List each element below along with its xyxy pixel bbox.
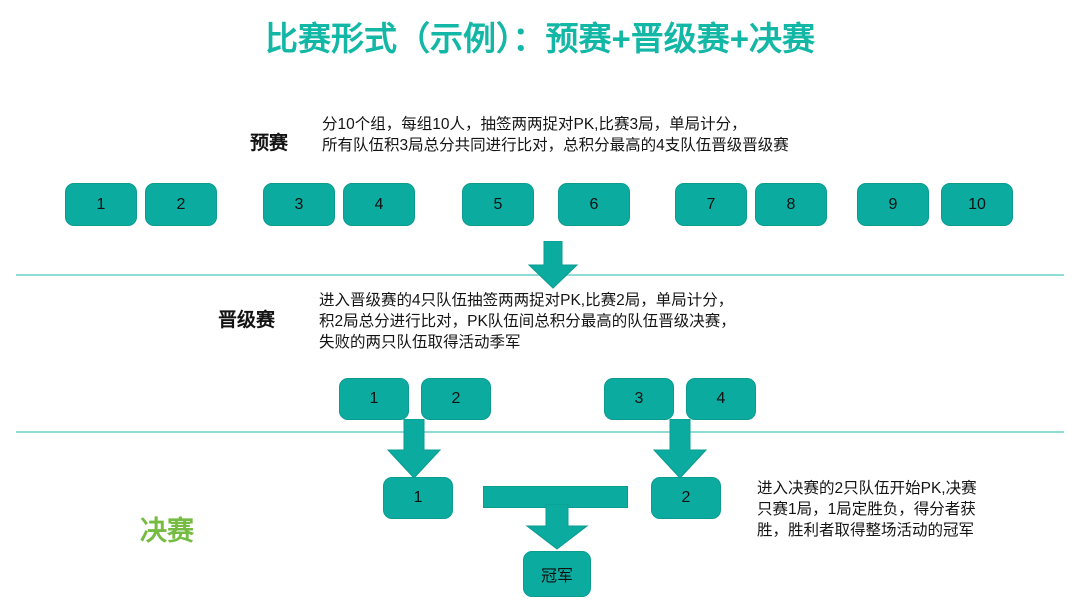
arrow-final-to-champion [520,504,594,550]
arrow-prelim-to-promotion [525,241,581,289]
prelim-box-2[interactable]: 2 [145,183,217,226]
final-box-1[interactable]: 1 [383,477,453,519]
stage-description-prelim: 分10个组，每组10人，抽签两两捉对PK,比赛3局，单局计分， 所有队伍积3局总… [322,114,942,156]
stage-description-promotion: 进入晋级赛的4只队伍抽签两两捉对PK,比赛2局，单局计分， 积2局总分进行比对，… [319,290,939,353]
prelim-box-4[interactable]: 4 [343,183,415,226]
champion-box[interactable]: 冠军 [523,551,591,597]
prelim-box-5[interactable]: 5 [462,183,534,226]
promotion-box-2[interactable]: 2 [421,378,491,420]
stage-label-prelim: 预赛 [250,128,288,155]
slide-canvas: 比赛形式（示例）：预赛+晋级赛+决赛 预赛 分10个组，每组10人，抽签两两捉对… [0,0,1080,607]
stage-description-final: 进入决赛的2只队伍开始PK,决赛 只赛1局，1局定胜负，得分者获 胜，胜利者取得… [757,478,1057,541]
prelim-box-10[interactable]: 10 [941,183,1013,226]
promotion-box-4[interactable]: 4 [686,378,756,420]
promotion-box-3[interactable]: 3 [604,378,674,420]
prelim-box-8[interactable]: 8 [755,183,827,226]
prelim-box-1[interactable]: 1 [65,183,137,226]
arrow-promotion-left-to-final [385,419,443,479]
prelim-box-7[interactable]: 7 [675,183,747,226]
prelim-box-9[interactable]: 9 [857,183,929,226]
section-divider-promotion [16,431,1064,433]
page-title: 比赛形式（示例）：预赛+晋级赛+决赛 [0,12,1080,60]
prelim-box-3[interactable]: 3 [263,183,335,226]
prelim-box-6[interactable]: 6 [558,183,630,226]
arrow-promotion-right-to-final [651,419,709,479]
promotion-box-1[interactable]: 1 [339,378,409,420]
stage-label-final: 决赛 [140,509,194,548]
final-box-2[interactable]: 2 [651,477,721,519]
stage-label-promotion: 晋级赛 [218,305,275,332]
